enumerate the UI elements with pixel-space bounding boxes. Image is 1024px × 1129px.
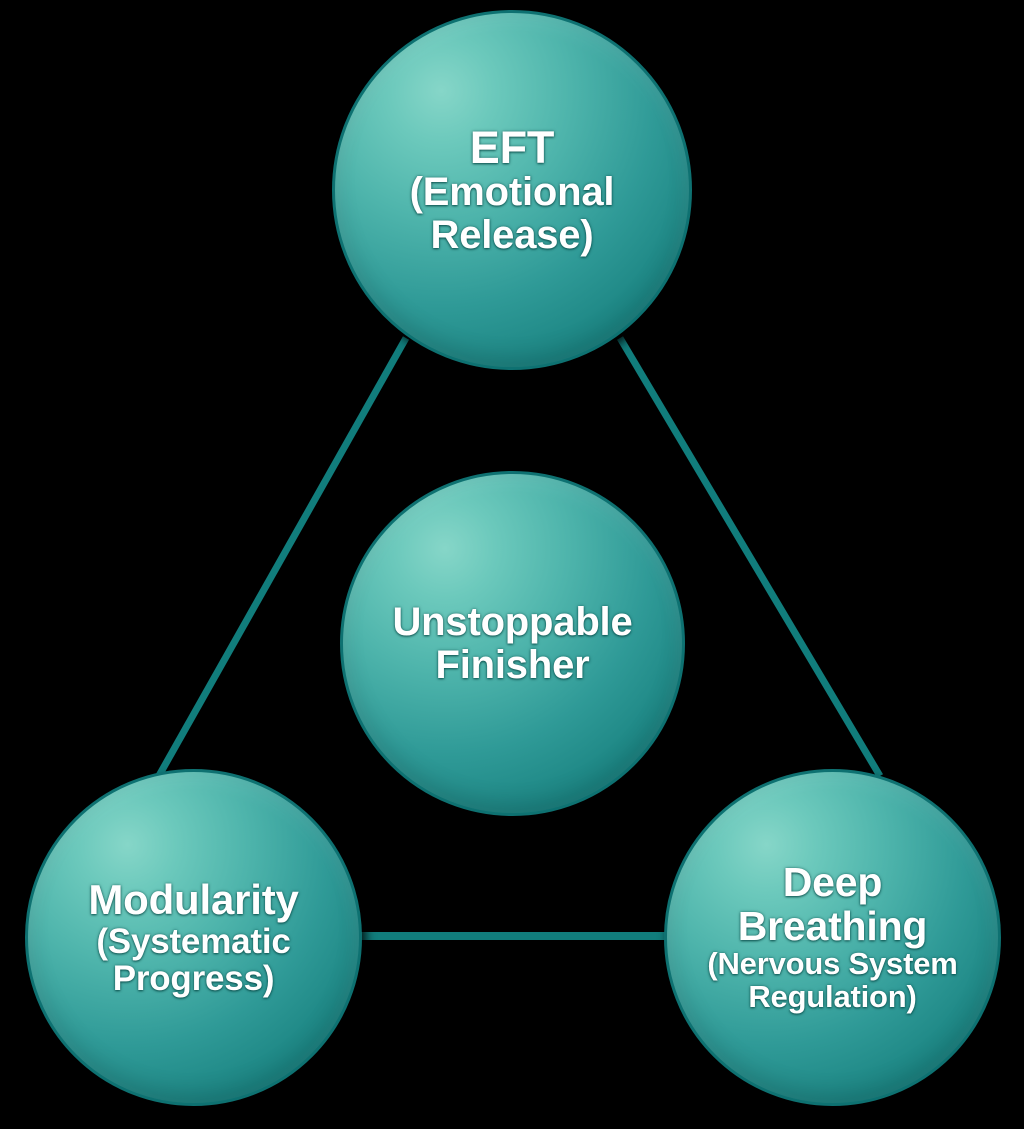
node-breathing-title-line-1: Deep (783, 861, 882, 904)
node-eft-subtitle-line-1: (Emotional (410, 171, 615, 213)
node-modularity[interactable]: Modularity (Systematic Progress) (25, 769, 362, 1106)
node-unstoppable-finisher[interactable]: Unstoppable Finisher (340, 471, 685, 816)
node-modularity-title: Modularity (88, 878, 298, 923)
diagram-canvas: EFT (Emotional Release) Unstoppable Fini… (0, 0, 1024, 1129)
node-breathing-subtitle-line-2: Regulation) (748, 981, 916, 1014)
node-eft-title: EFT (470, 124, 554, 172)
node-breathing-subtitle-line-1: (Nervous System (707, 948, 957, 981)
node-center-title-line-1: Unstoppable (392, 601, 632, 643)
node-center-title-line-2: Finisher (436, 644, 590, 686)
node-eft-subtitle-line-2: Release) (431, 214, 594, 256)
node-modularity-subtitle-line-2: Progress) (113, 960, 275, 997)
node-modularity-subtitle-line-1: (Systematic (96, 923, 290, 960)
node-breathing-title-line-2: Breathing (738, 905, 928, 948)
node-deep-breathing[interactable]: Deep Breathing (Nervous System Regulatio… (664, 769, 1001, 1106)
node-eft[interactable]: EFT (Emotional Release) (332, 10, 692, 370)
